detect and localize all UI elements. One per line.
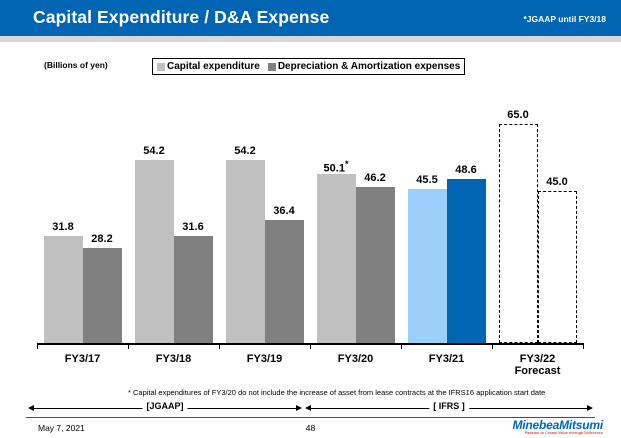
bar-value-label: 45.5	[402, 174, 453, 186]
x-axis-label-FY321: FY3/21	[401, 353, 492, 365]
chart-axis-baseline	[37, 343, 583, 345]
bar-FY319-da	[265, 220, 304, 343]
bar-FY322-da	[538, 191, 577, 343]
chart-unit-label: (Billions of yen)	[44, 60, 108, 70]
band-ifrs-arrow-left	[305, 405, 311, 411]
legend-item-capital-expenditure: Capital expenditure	[157, 61, 260, 72]
header-accent-strip	[0, 36, 621, 42]
bar-value-label: 31.6	[168, 221, 219, 233]
chart-axis-tick-end	[583, 343, 584, 349]
legend-label-da: Depreciation & Amortization expenses	[278, 61, 460, 72]
x-axis-label-FY319: FY3/19	[219, 353, 310, 365]
bar-value-label: 28.2	[77, 233, 128, 245]
accounting-standard-bands: [JGAAP] [ IFRS ]	[0, 402, 621, 416]
bar-FY320-capex	[317, 174, 356, 343]
band-jgaap-arrow-right	[296, 405, 302, 411]
band-jgaap: [JGAAP]	[28, 402, 302, 416]
x-axis-label-FY320: FY3/20	[310, 353, 401, 365]
logo-tagline: Passion to Create Value through Differen…	[512, 431, 603, 436]
legend-swatch-da	[268, 63, 276, 71]
chart-footnote: * Capital expenditures of FY3/20 do not …	[128, 388, 545, 397]
band-jgaap-label: [JGAAP]	[142, 401, 187, 411]
bar-FY321-capex	[408, 189, 447, 343]
bar-value-label: 65.0	[493, 109, 544, 121]
bar-FY321-da	[447, 179, 486, 343]
bar-value-label: 48.6	[441, 164, 492, 176]
bar-FY319-capex	[226, 160, 265, 343]
chart-axis-tick	[37, 343, 38, 349]
bar-FY317-capex	[44, 236, 83, 343]
logo-name: MinebeaMitsumi	[512, 419, 603, 431]
chart-axis-tick	[128, 343, 129, 349]
legend-swatch-capex	[157, 63, 165, 71]
legend-item-depreciation-amortization: Depreciation & Amortization expenses	[268, 61, 460, 72]
bar-FY322-capex	[499, 124, 538, 343]
bar-value-label: 50.1*	[311, 159, 362, 175]
x-axis-label-FY318: FY3/18	[128, 353, 219, 365]
x-axis-label-FY317: FY3/17	[37, 353, 128, 365]
chart-axis-tick	[219, 343, 220, 349]
bar-value-label: 45.0	[532, 176, 583, 188]
bar-FY318-capex	[135, 160, 174, 343]
band-ifrs-label: [ IFRS ]	[429, 401, 469, 411]
chart-axis-tick	[401, 343, 402, 349]
bar-value-label: 36.4	[259, 205, 310, 217]
header-note: *JGAAP until FY3/18	[523, 14, 606, 24]
chart-axis-tick	[310, 343, 311, 349]
chart-legend: Capital expenditure Depreciation & Amort…	[152, 58, 465, 75]
bar-FY317-da	[83, 248, 122, 343]
company-logo: MinebeaMitsumi Passion to Create Value t…	[512, 419, 603, 436]
bar-value-label: 54.2	[220, 145, 271, 157]
x-axis-label-FY322: FY3/22Forecast	[492, 353, 583, 377]
band-ifrs-arrow-right	[587, 405, 593, 411]
legend-label-capex: Capital expenditure	[167, 61, 260, 72]
bar-FY318-da	[174, 236, 213, 343]
bar-value-label: 31.8	[38, 221, 89, 233]
footer-divider	[26, 417, 595, 418]
bar-value-label: 46.2	[350, 172, 401, 184]
band-jgaap-arrow-left	[28, 405, 34, 411]
band-ifrs: [ IFRS ]	[305, 402, 593, 416]
page-title: Capital Expenditure / D&A Expense	[33, 7, 329, 28]
bar-value-label: 54.2	[129, 145, 180, 157]
bar-FY320-da	[356, 187, 395, 343]
chart-axis-tick	[492, 343, 493, 349]
